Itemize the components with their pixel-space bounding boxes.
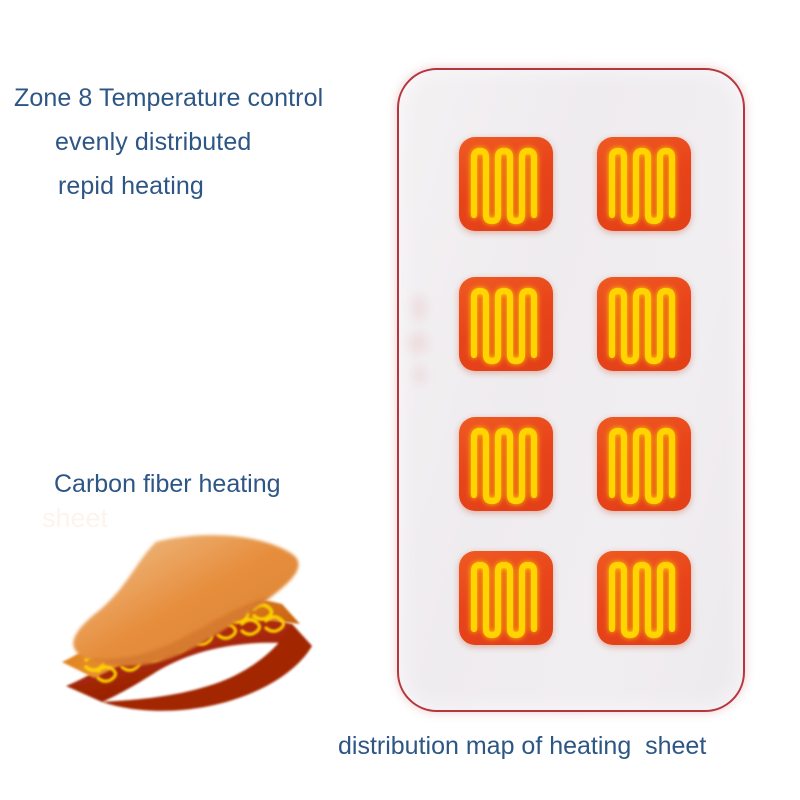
headline-line-2: evenly distributed [0,120,400,164]
carbon-fiber-caption: Carbon fiber heating [54,466,281,502]
bottom-caption: distribution map of heating sheet [338,729,706,763]
heating-zone-pad[interactable] [597,137,691,231]
headline-line-3: repid heating [0,164,400,208]
heating-zone-grid [399,70,745,712]
heating-zone-pad[interactable] [459,417,553,511]
heating-sheet-distribution-panel[interactable] [397,68,745,712]
heating-zone-pad[interactable] [597,551,691,645]
heating-zone-pad[interactable] [459,137,553,231]
heating-zone-pad[interactable] [459,277,553,371]
headline-text-block: Zone 8 Temperature control evenly distri… [0,76,400,208]
heating-zone-pad[interactable] [597,417,691,511]
heating-zone-pad[interactable] [597,277,691,371]
heating-zone-pad[interactable] [459,551,553,645]
illustration-woven-top-sheet [73,535,298,665]
carbon-fiber-layer-illustration [24,520,344,720]
headline-line-1: Zone 8 Temperature control [0,76,400,120]
